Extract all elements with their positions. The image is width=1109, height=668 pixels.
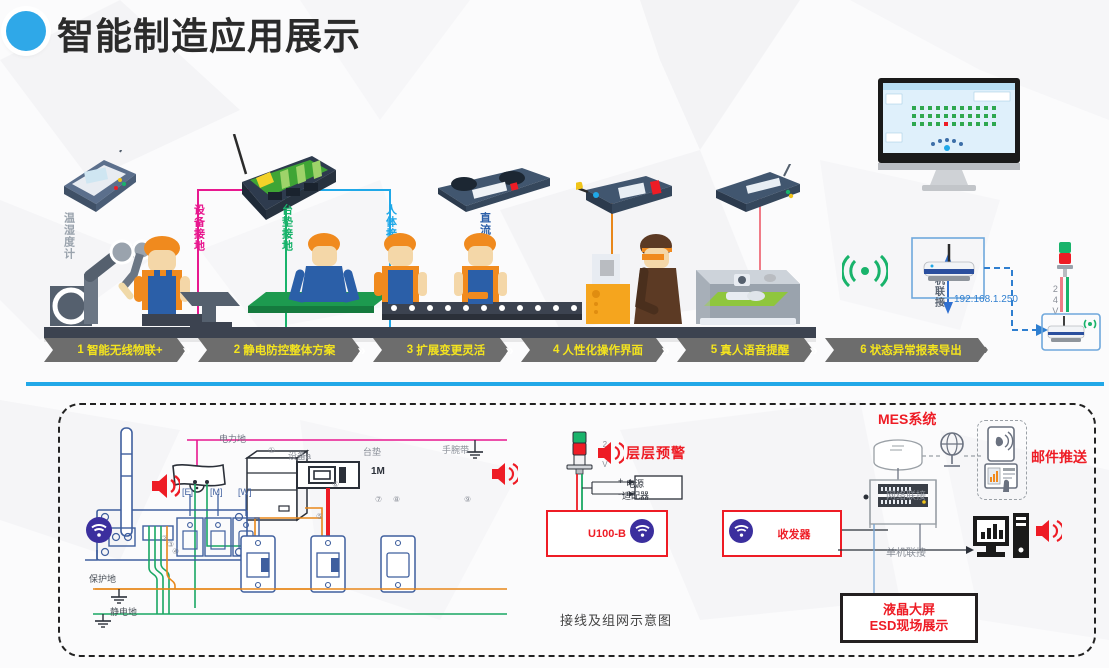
- app-logo-icon: [6, 11, 46, 51]
- tower-light-upper: [1054, 240, 1076, 282]
- label-mes-system: MES系统: [878, 409, 936, 429]
- temperature-humidity-meter: [58, 150, 138, 220]
- label-transceiver: 收发器: [778, 526, 811, 542]
- banner-item-6[interactable]: 6 状态异常报表导出: [825, 338, 987, 362]
- banner-item-5-label: 真人语音提醒: [720, 342, 789, 358]
- callout-8: ⑧: [393, 495, 400, 504]
- workers-illustration: [44, 214, 819, 332]
- label-wrist-strap: 手腕带: [442, 443, 469, 456]
- phone-icon: [986, 426, 1016, 462]
- label-adapter-line2: 适配器: [622, 489, 649, 502]
- banner-separator-2: »: [347, 338, 373, 362]
- callout-4: ④: [172, 547, 179, 556]
- label-mail-push: 邮件推送: [1031, 447, 1087, 467]
- port-label-w: [W]: [238, 487, 252, 497]
- banner-item-1[interactable]: 1 智能无线物联+: [44, 338, 186, 362]
- label-lcd-line2: ESD现场展示: [870, 618, 949, 634]
- adapter-minus-sign: -: [618, 489, 621, 499]
- wifi-router-device: [920, 244, 978, 292]
- feature-banner: 1 智能无线物联+ » 2 静电防控整体方案 » 3 扩展变更灵活 » 4 人性…: [44, 338, 819, 362]
- label-protect-ground: 保护地: [89, 572, 116, 585]
- label-ip-address: 192.168.1.250: [954, 294, 1018, 305]
- label-u100b: U100-B: [588, 528, 626, 540]
- receiver-unit-upper: [1040, 312, 1102, 352]
- banner-item-2-index: 2: [234, 344, 240, 356]
- banner-item-3[interactable]: 3 扩展变更灵活: [373, 338, 509, 362]
- wireless-signal-icon: [842, 254, 888, 288]
- banner-separator-5: »: [799, 338, 825, 362]
- label-network-link: 网络联接: [886, 487, 926, 502]
- voice-alert-icon-pc: [1034, 518, 1062, 544]
- banner-item-1-index: 1: [77, 344, 83, 356]
- tablet-report-icon: [984, 462, 1018, 494]
- banner-item-5[interactable]: 5 真人语音提醒: [677, 338, 813, 362]
- pc-display-icon: [972, 512, 1030, 562]
- desktop-monitor: [878, 78, 1020, 193]
- section-divider: [26, 382, 1104, 386]
- banner-item-4-index: 4: [553, 344, 559, 356]
- callout-5: ⑤: [316, 512, 323, 521]
- wifi-badge-controller: [86, 517, 112, 543]
- voice-alert-icon-left: [150, 472, 180, 500]
- callout-1: ①: [268, 446, 275, 455]
- factory-scene: 温湿度计 设备接地 台垫接地 人体接地: [0, 72, 1109, 362]
- voice-alert-icon-wrist: [490, 461, 518, 487]
- diagram-caption: 接线及组网示意图: [560, 610, 672, 629]
- banner-item-2[interactable]: 2 静电防控整体方案: [198, 338, 361, 362]
- label-static-ground: 静电地: [110, 605, 137, 618]
- label-single-link-diagram: 单机联接: [886, 544, 926, 559]
- banner-item-4-label: 人性化操作界面: [563, 342, 644, 358]
- port-label-e: [E]: [182, 487, 193, 497]
- banner-separator-3: »: [495, 338, 521, 362]
- callout-7: ⑦: [375, 495, 382, 504]
- dc-fan-device: [436, 162, 552, 214]
- page-title: 智能制造应用展示: [57, 6, 361, 60]
- banner-item-4[interactable]: 4 人性化操作界面: [521, 338, 665, 362]
- label-mat: 台垫: [363, 445, 381, 458]
- banner-item-3-label: 扩展变更灵活: [416, 342, 485, 358]
- page-root: 智能制造应用展示: [0, 0, 1109, 668]
- wireless-gateway-device: [576, 168, 676, 218]
- voice-alert-icon-alarm: [596, 440, 624, 466]
- wifi-badge-transceiver: [729, 519, 753, 543]
- label-power-ground: 电力地: [219, 432, 246, 445]
- page-header: 智能制造应用展示: [0, 0, 1109, 72]
- port-label-m: [M]: [210, 487, 223, 497]
- banner-separator-4: »: [651, 338, 677, 362]
- banner-item-3-index: 3: [407, 344, 413, 356]
- lcd-display-box[interactable]: 液晶大屏 ESD现场展示: [840, 593, 978, 643]
- adapter-plus-sign: +: [618, 476, 623, 486]
- banner-item-2-label: 静电防控整体方案: [243, 342, 335, 358]
- banner-item-5-index: 5: [711, 344, 717, 356]
- callout-9: ⑨: [464, 495, 471, 504]
- banner-end-tip: »: [977, 338, 991, 362]
- wifi-badge-u100b: [630, 519, 654, 543]
- banner-item-6-index: 6: [860, 344, 866, 356]
- wireless-ap-device: [712, 164, 804, 216]
- callout-6: ⑥: [332, 480, 339, 489]
- banner-item-6-label: 状态异常报表导出: [870, 342, 962, 358]
- label-lcd-line1: 液晶大屏: [883, 602, 935, 618]
- label-device-a: 设备a: [288, 449, 311, 462]
- label-layered-alarm: 层层预警: [626, 443, 686, 463]
- banner-item-1-label: 智能无线物联+: [87, 342, 163, 358]
- label-mat-resistance: 1M: [371, 466, 385, 477]
- banner-separator-1: »: [172, 338, 198, 362]
